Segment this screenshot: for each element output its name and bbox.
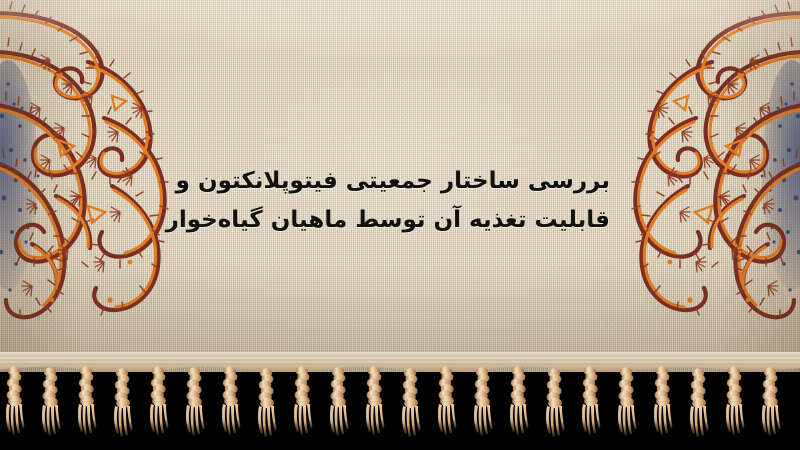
tassel <box>258 368 277 437</box>
tassel <box>330 367 349 436</box>
tassel-row <box>6 366 781 437</box>
tassel <box>762 367 781 436</box>
title-line-2: قابلیت تغذیه آن توسط ماهیان گیاه‌خوار <box>190 201 610 240</box>
tassel <box>726 366 745 435</box>
tassel <box>186 367 205 436</box>
tassel <box>546 368 565 437</box>
tassel <box>150 366 169 435</box>
tassel <box>114 368 133 437</box>
tassel <box>474 367 493 436</box>
tassel <box>582 366 601 435</box>
tassel <box>654 366 673 435</box>
tassel <box>402 368 421 437</box>
slide-title: بررسی ساختار جمعیتی فیتوپلانکتون و قابلی… <box>190 162 610 240</box>
tassel <box>510 366 529 435</box>
tassel <box>42 367 61 436</box>
tassel <box>690 368 709 437</box>
knotted-tassel-fringe <box>0 352 800 450</box>
tassel <box>438 366 457 435</box>
tassel <box>78 366 97 435</box>
tassel <box>6 366 25 435</box>
tassel <box>294 366 313 435</box>
tassel <box>366 366 385 435</box>
tassel <box>222 366 241 435</box>
slide-canvas: بررسی ساختار جمعیتی فیتوپلانکتون و قابلی… <box>0 0 800 450</box>
tassel <box>618 367 637 436</box>
title-line-1: بررسی ساختار جمعیتی فیتوپلانکتون و <box>190 162 610 201</box>
